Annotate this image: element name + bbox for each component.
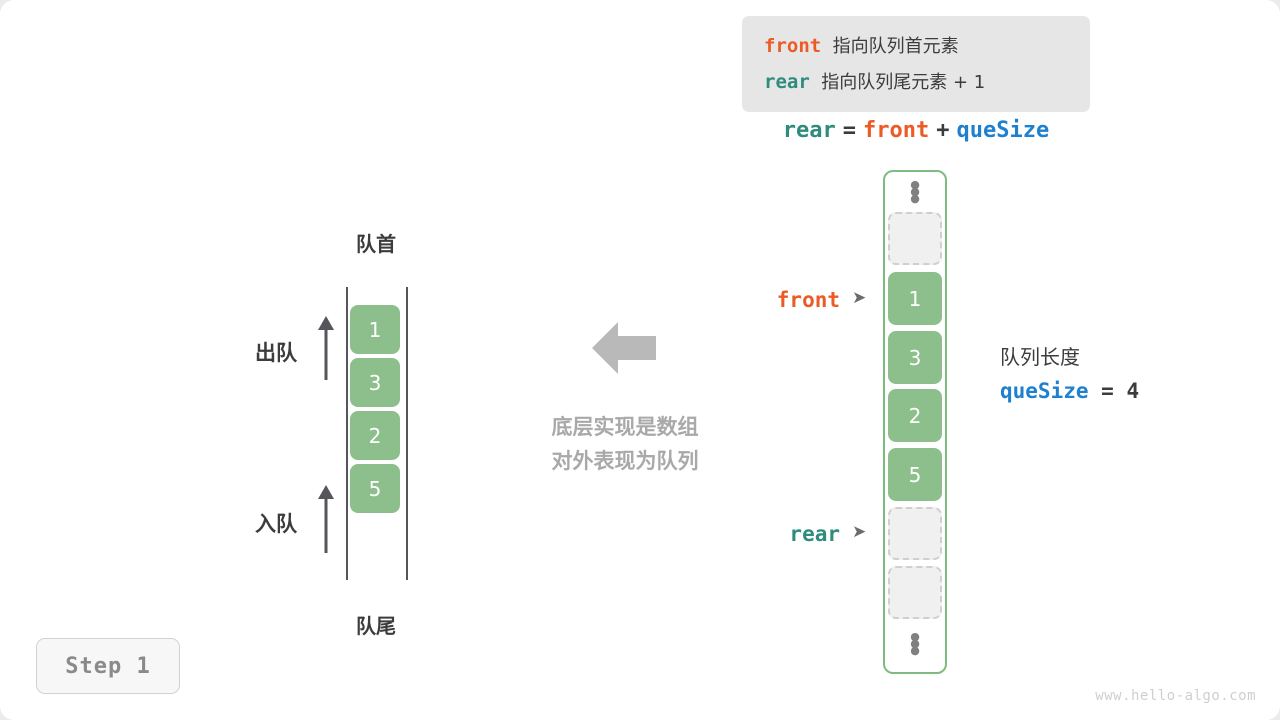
- legend-line-front: front 指向队列首元素: [764, 28, 1090, 64]
- figure-canvas: front 指向队列首元素 rear 指向队列尾元素 + 1 rear = fr…: [0, 0, 1280, 720]
- quesize-var: queSize: [1000, 379, 1089, 403]
- legend-rear-text: 指向队列尾元素 + 1: [821, 72, 985, 93]
- watermark: www.hello-algo.com: [1095, 688, 1256, 704]
- rear-pointer-arrow-icon: ➤: [852, 524, 866, 541]
- quesize-equals: =: [1101, 379, 1114, 403]
- array-slot: [888, 566, 942, 619]
- enqueue-label: 入队: [255, 508, 297, 538]
- array-slot: 2: [888, 389, 942, 442]
- legend-front-text: 指向队列首元素: [833, 36, 959, 57]
- formula-front: front: [863, 118, 929, 143]
- quesize-value: 4: [1126, 379, 1139, 403]
- array-slot: 5: [888, 448, 942, 501]
- array-slot: [888, 212, 942, 265]
- legend-front-token: front: [764, 35, 821, 57]
- legend-box: front 指向队列首元素 rear 指向队列尾元素 + 1: [742, 16, 1090, 112]
- array-bottom-ellipsis-icon: ●●●: [883, 633, 947, 654]
- queue-cell: 2: [350, 411, 400, 460]
- quesize-note: 队列长度 queSize = 4: [1000, 341, 1139, 409]
- formula-line: rear = front + queSize: [742, 118, 1090, 143]
- array-slot: 1: [888, 272, 942, 325]
- legend-rear-token: rear: [764, 71, 810, 93]
- queue-cell: 3: [350, 358, 400, 407]
- rear-pointer-label: rear: [700, 522, 840, 546]
- queue-rail-right: [406, 287, 408, 580]
- queue-cell: 1: [350, 305, 400, 354]
- middle-caption: 底层实现是数组 对外表现为队列: [505, 410, 745, 478]
- array-slot: 3: [888, 331, 942, 384]
- array-slot: [888, 507, 942, 560]
- queue-head-label: 队首: [330, 228, 422, 257]
- middle-caption-line1: 底层实现是数组: [505, 410, 745, 444]
- front-pointer-arrow-icon: ➤: [852, 290, 866, 307]
- queue-tail-label: 队尾: [330, 610, 422, 639]
- step-badge: Step 1: [36, 638, 180, 694]
- formula-plus: +: [936, 118, 949, 143]
- legend-line-rear: rear 指向队列尾元素 + 1: [764, 64, 1090, 100]
- quesize-caption: 队列长度: [1000, 341, 1139, 373]
- enqueue-up-arrow-icon: [313, 483, 339, 555]
- middle-caption-line2: 对外表现为队列: [505, 444, 745, 478]
- formula-rear: rear: [783, 118, 836, 143]
- formula-quesize: queSize: [957, 118, 1050, 143]
- queue-cell: 5: [350, 464, 400, 513]
- dequeue-label: 出队: [255, 337, 297, 367]
- front-pointer-label: front: [700, 288, 840, 312]
- formula-equals: =: [843, 118, 856, 143]
- quesize-expression: queSize = 4: [1000, 373, 1139, 409]
- queue-rail-left: [346, 287, 348, 580]
- left-arrow-icon: [592, 318, 656, 378]
- dequeue-up-arrow-icon: [313, 314, 339, 382]
- array-top-ellipsis-icon: ●●●: [883, 181, 947, 202]
